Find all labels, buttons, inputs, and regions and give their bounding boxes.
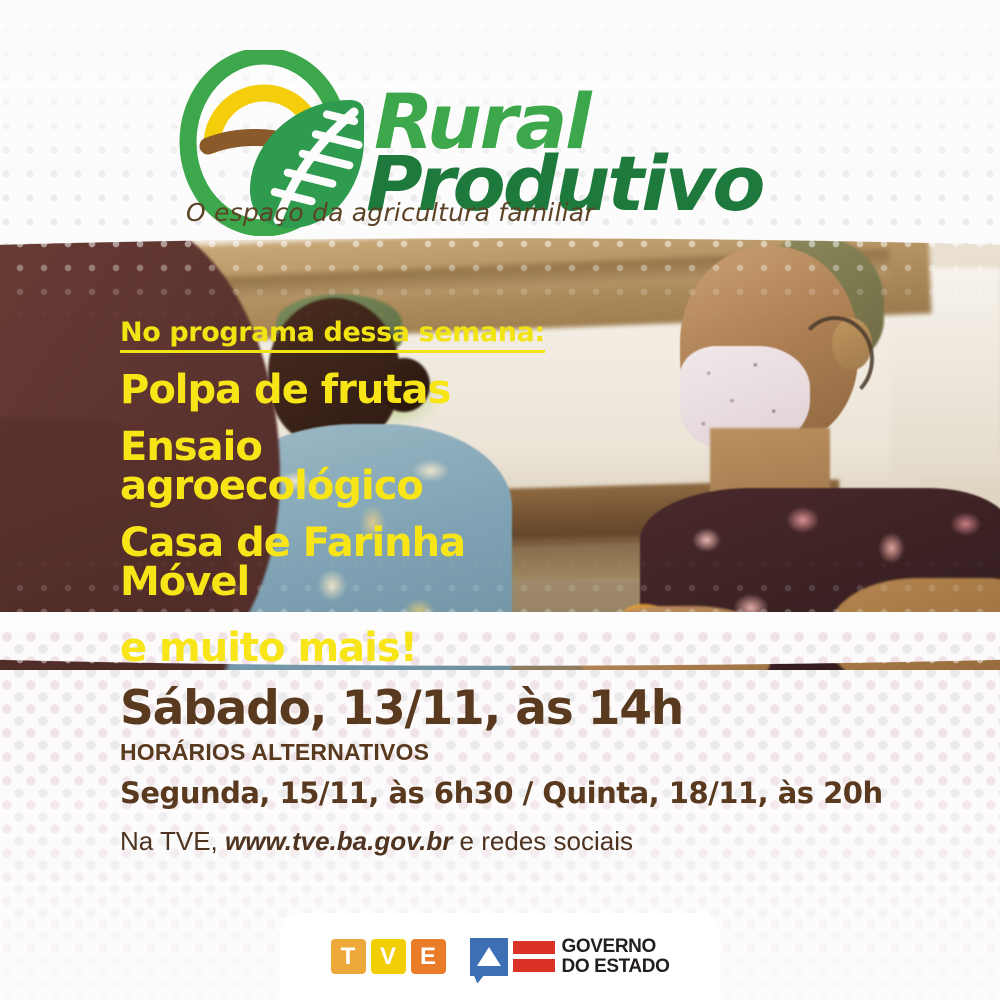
governo-text: GOVERNO DO ESTADO	[562, 937, 670, 976]
bahia-state-flag-icon	[470, 938, 555, 976]
where-suffix: e redes sociais	[452, 826, 633, 856]
photo-dots-overlay-top	[0, 238, 1000, 318]
program-item: Ensaio agroecológico	[120, 428, 520, 506]
red-bars-icon	[513, 938, 555, 976]
header: Rural Produtivo O espaço da agricultura …	[0, 0, 1000, 250]
governo-line2: DO ESTADO	[562, 957, 670, 976]
where-prefix: Na TVE,	[120, 826, 225, 856]
program-item: Casa de Farinha Móvel	[120, 524, 520, 602]
program-item: e muito mais!	[120, 629, 520, 668]
program-highlights: No programa dessa semana: Polpa de fruta…	[120, 318, 680, 668]
blue-shield-icon	[470, 938, 508, 976]
schedule-where: Na TVE, www.tve.ba.gov.br e redes sociai…	[120, 826, 940, 857]
footer-logos-card: T V E GOVERNO DO ESTADO	[280, 913, 720, 1000]
governo-do-estado-logo: GOVERNO DO ESTADO	[470, 937, 670, 976]
tve-website-link[interactable]: www.tve.ba.gov.br	[225, 826, 452, 856]
poster: Rural Produtivo O espaço da agricultura …	[0, 0, 1000, 1000]
program-kicker: No programa dessa semana:	[120, 318, 545, 353]
tve-letter-t: T	[331, 939, 366, 974]
schedule-main-time: Sábado, 13/11, às 14h	[120, 684, 940, 733]
program-item: Polpa de frutas	[120, 371, 520, 410]
tve-logo: T V E	[331, 939, 446, 974]
tve-letter-v: V	[371, 939, 406, 974]
tve-letter-e: E	[411, 939, 446, 974]
brand-tagline: O espaço da agricultura familiar	[186, 198, 595, 227]
schedule-alt-label: HORÁRIOS ALTERNATIVOS	[120, 739, 940, 766]
governo-line1: GOVERNO	[562, 937, 670, 956]
broadcast-schedule: Sábado, 13/11, às 14h HORÁRIOS ALTERNATI…	[120, 684, 940, 857]
white-triangle-icon	[477, 947, 501, 966]
schedule-alt-times: Segunda, 15/11, às 6h30 / Quinta, 18/11,…	[120, 776, 940, 810]
